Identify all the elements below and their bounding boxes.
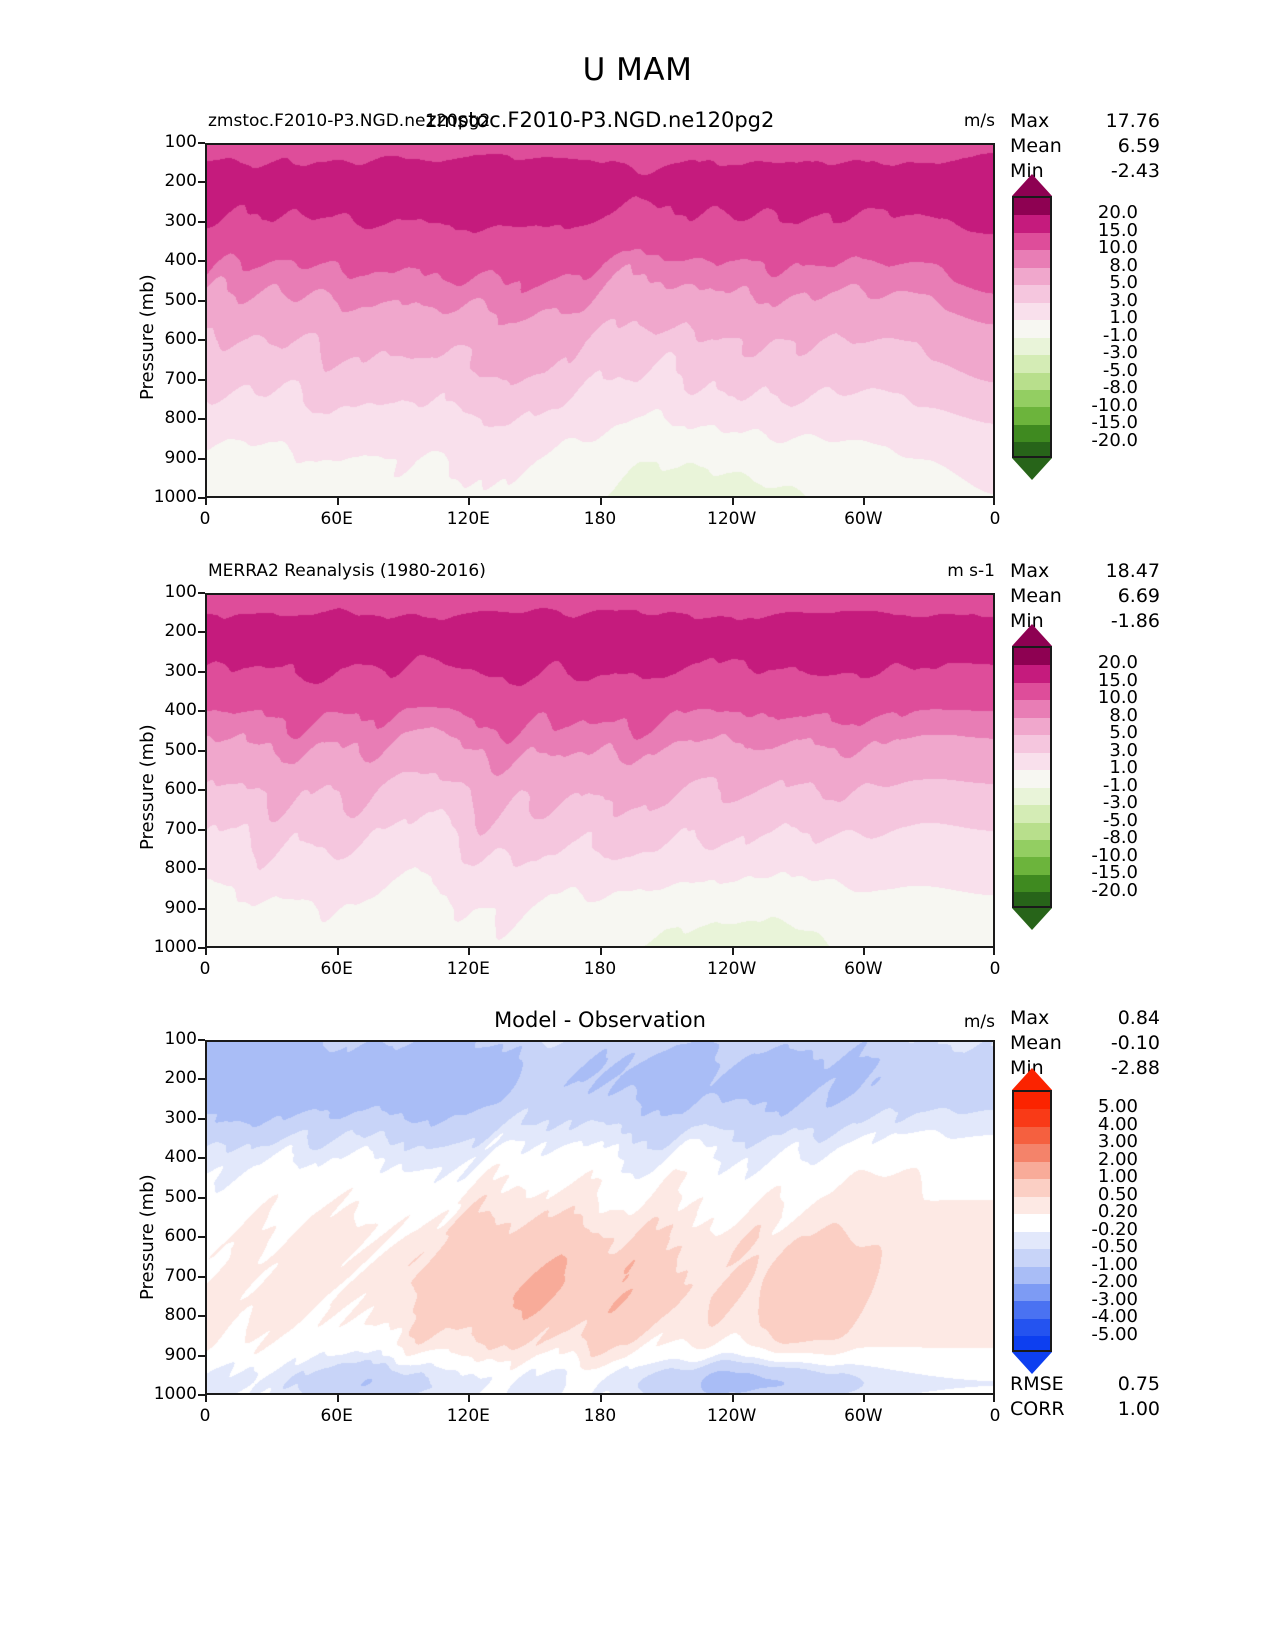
panel-model-ytick-600: 600 — [133, 329, 197, 349]
panel-model-ytickmark-900 — [198, 458, 205, 460]
panel-model-xtick-1: 60E — [292, 509, 382, 529]
panel-model-stat-mean-label: Mean — [1010, 135, 1062, 157]
panel-obs-colorbar-segment-9 — [1014, 805, 1050, 822]
panel-difference-stat-mean: Mean-0.10 — [1010, 1032, 1160, 1057]
panel-model-colorbar-segment-7 — [1014, 320, 1050, 337]
panel-obs-colorbar-labels: 20.015.010.08.05.03.01.0-1.0-3.0-5.0-8.0… — [1060, 646, 1138, 908]
panel-obs-stat-mean-value: 6.69 — [1118, 585, 1160, 607]
panel-model-colorbar-segment-5 — [1014, 285, 1050, 302]
panel-obs-ytick-800: 800 — [133, 858, 197, 878]
panel-obs-colorbar-segment-10 — [1014, 823, 1050, 840]
panel-obs-colorbar-segment-3 — [1014, 700, 1050, 717]
panel-obs-xtick-6: 0 — [950, 959, 1040, 979]
panel-obs-ytick-100: 100 — [133, 582, 197, 602]
panel-model-colorbar-segment-6 — [1014, 303, 1050, 320]
panel-difference-xtickmark-2 — [468, 1395, 470, 1402]
panel-model-colorbar-segment-4 — [1014, 268, 1050, 285]
panel-difference-colorbar-segment-0 — [1014, 1092, 1050, 1109]
panel-obs-contour-canvas — [207, 595, 995, 948]
metric-rmse: RMSE0.75 — [1010, 1373, 1160, 1398]
panel-obs-ytick-300: 300 — [133, 661, 197, 681]
panel-model-xtick-5: 60W — [818, 509, 908, 529]
panel-difference-colorbar-segment-12 — [1014, 1301, 1050, 1318]
panel-difference-units: m/s — [855, 1012, 995, 1032]
panel-obs-ytick-700: 700 — [133, 819, 197, 839]
panel-difference-xtick-0: 0 — [160, 1406, 250, 1426]
panel-obs-colorbar-segment-11 — [1014, 840, 1050, 857]
panel-model-colorbar-segment-13 — [1014, 425, 1050, 442]
panel-model-ytickmark-300 — [198, 221, 205, 223]
panel-difference-colorbar-segment-6 — [1014, 1197, 1050, 1214]
panel-obs-xtickmark-5 — [863, 948, 865, 955]
panel-difference-ytick-700: 700 — [133, 1266, 197, 1286]
panel-obs-stat-max-label: Max — [1010, 560, 1049, 582]
panel-obs-stats: Max18.47Mean6.69Min-1.86 — [1010, 560, 1160, 635]
panel-obs-colorbar-segment-1 — [1014, 665, 1050, 682]
panel-model-xtickmark-0 — [205, 498, 207, 505]
panel-obs-ytickmark-400 — [198, 710, 205, 712]
panel-obs-stat-mean: Mean6.69 — [1010, 585, 1160, 610]
panel-obs-xtickmark-2 — [468, 948, 470, 955]
panel-obs-colorbar-segment-8 — [1014, 788, 1050, 805]
panel-model-ytickmark-700 — [198, 379, 205, 381]
panel-difference-ytick-500: 500 — [133, 1187, 197, 1207]
panel-difference-xtick-2: 120E — [423, 1406, 513, 1426]
panel-obs-colorbar-label-13: -20.0 — [1060, 882, 1138, 900]
panel-difference-colorbar-segment-7 — [1014, 1214, 1050, 1231]
panel-difference-ytick-400: 400 — [133, 1147, 197, 1167]
panel-model-ytick-300: 300 — [133, 211, 197, 231]
panel-difference-colorbar-segment-13 — [1014, 1319, 1050, 1336]
panel-model-xtickmark-6 — [993, 498, 995, 505]
panel-model-xtick-4: 120W — [687, 509, 777, 529]
panel-difference-colorbar-body[interactable] — [1012, 1090, 1052, 1352]
panel-difference-colorbar-segment-9 — [1014, 1249, 1050, 1266]
panel-obs-ytickmark-100 — [198, 592, 205, 594]
panel-difference-stat-max-label: Max — [1010, 1007, 1049, 1029]
panel-obs-xtickmark-0 — [205, 948, 207, 955]
panel-model-xtick-2: 120E — [423, 509, 513, 529]
panel-obs-ytickmark-500 — [198, 750, 205, 752]
panel-obs-stat-max: Max18.47 — [1010, 560, 1160, 585]
panel-model-stat-max-label: Max — [1010, 110, 1049, 132]
panel-model-colorbar-segment-14 — [1014, 442, 1050, 458]
panel-difference-xtick-4: 120W — [687, 1406, 777, 1426]
panel-obs-colorbar-segment-12 — [1014, 857, 1050, 874]
panel-obs-plot-area — [205, 593, 995, 948]
panel-difference-ytick-800: 800 — [133, 1305, 197, 1325]
panel-difference-stat-max-value: 0.84 — [1118, 1007, 1160, 1029]
panel-model-ytickmark-200 — [198, 181, 205, 183]
panel-model-stats: Max17.76Mean6.59Min-2.43 — [1010, 110, 1160, 185]
panel-obs-ytickmark-1000 — [198, 947, 205, 949]
panel-obs-colorbar-body[interactable] — [1012, 646, 1052, 908]
panel-obs-colorbar-segment-0 — [1014, 648, 1050, 665]
panel-model-ytick-200: 200 — [133, 171, 197, 191]
panel-model-stat-min-label: Min — [1010, 160, 1044, 182]
panel-difference-ytickmark-300 — [198, 1118, 205, 1120]
panel-model-xtickmark-3 — [600, 498, 602, 505]
panel-difference-ytickmark-400 — [198, 1157, 205, 1159]
panel-obs-colorbar-segment-5 — [1014, 735, 1050, 752]
panel-model-ytickmark-600 — [198, 339, 205, 341]
panel-difference-stat-mean-value: -0.10 — [1111, 1032, 1160, 1054]
panel-model-ytick-800: 800 — [133, 408, 197, 428]
panel-difference-xtick-3: 180 — [555, 1406, 645, 1426]
panel-obs-colorbar-segment-2 — [1014, 683, 1050, 700]
difference-metrics: RMSE0.75CORR1.00 — [1010, 1373, 1160, 1423]
panel-obs-ytick-200: 200 — [133, 621, 197, 641]
panel-obs-ytickmark-300 — [198, 671, 205, 673]
panel-obs-units: m s-1 — [855, 561, 995, 581]
panel-model-ytick-100: 100 — [133, 132, 197, 152]
panel-difference-xtick-1: 60E — [292, 1406, 382, 1426]
panel-obs-colorbar-segment-6 — [1014, 753, 1050, 770]
panel-obs-colorbar-segment-4 — [1014, 718, 1050, 735]
panel-model-stat-mean-value: 6.59 — [1118, 135, 1160, 157]
panel-obs-stat-mean-label: Mean — [1010, 585, 1062, 607]
metric-corr: CORR1.00 — [1010, 1398, 1160, 1423]
panel-difference-xtickmark-3 — [600, 1395, 602, 1402]
panel-obs-ytick-400: 400 — [133, 700, 197, 720]
panel-obs-ytickmark-700 — [198, 829, 205, 831]
panel-difference-stat-max: Max0.84 — [1010, 1007, 1160, 1032]
panel-model-ytick-900: 900 — [133, 448, 197, 468]
panel-obs-xtickmark-4 — [732, 948, 734, 955]
panel-difference-stat-mean-label: Mean — [1010, 1032, 1062, 1054]
metric-corr-value: 1.00 — [1118, 1398, 1160, 1420]
panel-difference-colorbar-segment-10 — [1014, 1267, 1050, 1284]
panel-model-contour-canvas — [207, 145, 995, 498]
panel-model-colorbar-segment-0 — [1014, 198, 1050, 215]
panel-model-ytick-700: 700 — [133, 369, 197, 389]
panel-model-xtickmark-1 — [337, 498, 339, 505]
panel-model-colorbar-segment-1 — [1014, 215, 1050, 232]
panel-difference-stat-min-value: -2.88 — [1111, 1057, 1160, 1079]
metric-corr-label: CORR — [1010, 1398, 1065, 1420]
panel-obs-xtickmark-3 — [600, 948, 602, 955]
panel-difference-ytick-100: 100 — [133, 1029, 197, 1049]
panel-difference-colorbar-segment-8 — [1014, 1232, 1050, 1249]
panel-obs-ytickmark-900 — [198, 908, 205, 910]
panel-difference-ytick-300: 300 — [133, 1108, 197, 1128]
panel-obs-ytick-600: 600 — [133, 779, 197, 799]
panel-model-colorbar-segment-11 — [1014, 390, 1050, 407]
panel-difference-colorbar-segment-1 — [1014, 1109, 1050, 1126]
panel-model-ytick-500: 500 — [133, 290, 197, 310]
panel-model-xtickmark-2 — [468, 498, 470, 505]
panel-obs-colorbar-segment-13 — [1014, 875, 1050, 892]
panel-model-xtick-0: 0 — [160, 509, 250, 529]
panel-difference-xtick-5: 60W — [818, 1406, 908, 1426]
panel-model-xtickmark-5 — [863, 498, 865, 505]
panel-model-colorbar-segment-9 — [1014, 355, 1050, 372]
panel-model-stat-min-value: -2.43 — [1111, 160, 1160, 182]
panel-difference-plot-area — [205, 1040, 995, 1395]
figure-root: U MAM zmstoc.F2010-P3.NGD.ne120pg2 zmsto… — [0, 0, 1275, 1650]
panel-model-colorbar-segment-8 — [1014, 338, 1050, 355]
panel-difference-colorbar-segment-2 — [1014, 1127, 1050, 1144]
panel-difference-ytick-1000: 1000 — [133, 1384, 197, 1404]
panel-model-ytickmark-500 — [198, 300, 205, 302]
panel-model-colorbar-labels: 20.015.010.08.05.03.01.0-1.0-3.0-5.0-8.0… — [1060, 196, 1138, 458]
panel-model-stat-max-value: 17.76 — [1106, 110, 1160, 132]
panel-difference-colorbar-segment-11 — [1014, 1284, 1050, 1301]
panel-difference-xtickmark-6 — [993, 1395, 995, 1402]
panel-difference-colorbar-cap-min — [1012, 1352, 1052, 1374]
panel-model-ytickmark-1000 — [198, 497, 205, 499]
panel-model-xtickmark-4 — [732, 498, 734, 505]
panel-model-colorbar-label-13: -20.0 — [1060, 432, 1138, 450]
panel-obs-colorbar-cap-min — [1012, 908, 1052, 930]
panel-difference-xtickmark-4 — [732, 1395, 734, 1402]
figure-title: U MAM — [0, 52, 1275, 88]
panel-obs-ytick-500: 500 — [133, 740, 197, 760]
panel-difference-xtickmark-1 — [337, 1395, 339, 1402]
panel-difference-ytick-600: 600 — [133, 1226, 197, 1246]
panel-obs-xtick-2: 120E — [423, 959, 513, 979]
panel-obs-ytickmark-800 — [198, 868, 205, 870]
panel-model-ytick-1000: 1000 — [133, 487, 197, 507]
panel-obs-stat-min-label: Min — [1010, 610, 1044, 632]
metric-rmse-value: 0.75 — [1118, 1373, 1160, 1395]
panel-difference-ytickmark-700 — [198, 1276, 205, 1278]
panel-difference-colorbar-labels: 5.004.003.002.001.000.500.20-0.20-0.50-1… — [1060, 1090, 1138, 1352]
panel-model-units: m/s — [855, 111, 995, 131]
panel-obs-ytickmark-600 — [198, 789, 205, 791]
panel-difference-xtickmark-0 — [205, 1395, 207, 1402]
panel-difference-colorbar-segment-5 — [1014, 1179, 1050, 1196]
panel-model-colorbar-body[interactable] — [1012, 196, 1052, 458]
panel-model-plot-area — [205, 143, 995, 498]
panel-difference-ytickmark-600 — [198, 1236, 205, 1238]
panel-difference-colorbar-segment-4 — [1014, 1162, 1050, 1179]
panel-model-ytick-400: 400 — [133, 250, 197, 270]
panel-model-colorbar-segment-2 — [1014, 233, 1050, 250]
panel-difference-ytick-900: 900 — [133, 1345, 197, 1365]
panel-obs-xtick-1: 60E — [292, 959, 382, 979]
panel-difference-ytickmark-800 — [198, 1315, 205, 1317]
panel-difference-ytick-200: 200 — [133, 1068, 197, 1088]
panel-obs-xtickmark-6 — [993, 948, 995, 955]
panel-obs-colorbar-segment-14 — [1014, 892, 1050, 908]
panel-model-stat-max: Max17.76 — [1010, 110, 1160, 135]
panel-model-colorbar-segment-10 — [1014, 373, 1050, 390]
panel-obs-ytick-900: 900 — [133, 898, 197, 918]
panel-obs-colorbar-segment-7 — [1014, 770, 1050, 787]
panel-difference-ytickmark-200 — [198, 1078, 205, 1080]
panel-model-colorbar-segment-3 — [1014, 250, 1050, 267]
panel-model-ytickmark-800 — [198, 418, 205, 420]
panel-model-colorbar-cap-min — [1012, 458, 1052, 480]
panel-obs-header-left: MERRA2 Reanalysis (1980-2016) — [208, 561, 486, 581]
panel-difference-ytickmark-900 — [198, 1355, 205, 1357]
panel-difference-colorbar-label-13: -5.00 — [1060, 1326, 1138, 1344]
panel-difference-ytickmark-100 — [198, 1039, 205, 1041]
panel-obs-xtick-4: 120W — [687, 959, 777, 979]
panel-difference-xtickmark-5 — [863, 1395, 865, 1402]
panel-obs-stat-min-value: -1.86 — [1111, 610, 1160, 632]
panel-model-xtick-3: 180 — [555, 509, 645, 529]
panel-difference-contour-canvas — [207, 1042, 995, 1395]
panel-obs-ytick-1000: 1000 — [133, 937, 197, 957]
panel-model-colorbar-segment-12 — [1014, 407, 1050, 424]
panel-obs-stat-max-value: 18.47 — [1106, 560, 1160, 582]
panel-difference-colorbar-segment-3 — [1014, 1144, 1050, 1161]
panel-obs-xtick-5: 60W — [818, 959, 908, 979]
panel-difference-ytickmark-500 — [198, 1197, 205, 1199]
panel-difference-colorbar-segment-14 — [1014, 1336, 1050, 1352]
metric-rmse-label: RMSE — [1010, 1373, 1064, 1395]
panel-model-stat-mean: Mean6.59 — [1010, 135, 1160, 160]
panel-obs-xtickmark-1 — [337, 948, 339, 955]
panel-model-xtick-6: 0 — [950, 509, 1040, 529]
panel-model-ytickmark-100 — [198, 142, 205, 144]
panel-difference-ytickmark-1000 — [198, 1394, 205, 1396]
panel-model-ytickmark-400 — [198, 260, 205, 262]
panel-obs-xtick-0: 0 — [160, 959, 250, 979]
panel-obs-ytickmark-200 — [198, 631, 205, 633]
panel-obs-xtick-3: 180 — [555, 959, 645, 979]
